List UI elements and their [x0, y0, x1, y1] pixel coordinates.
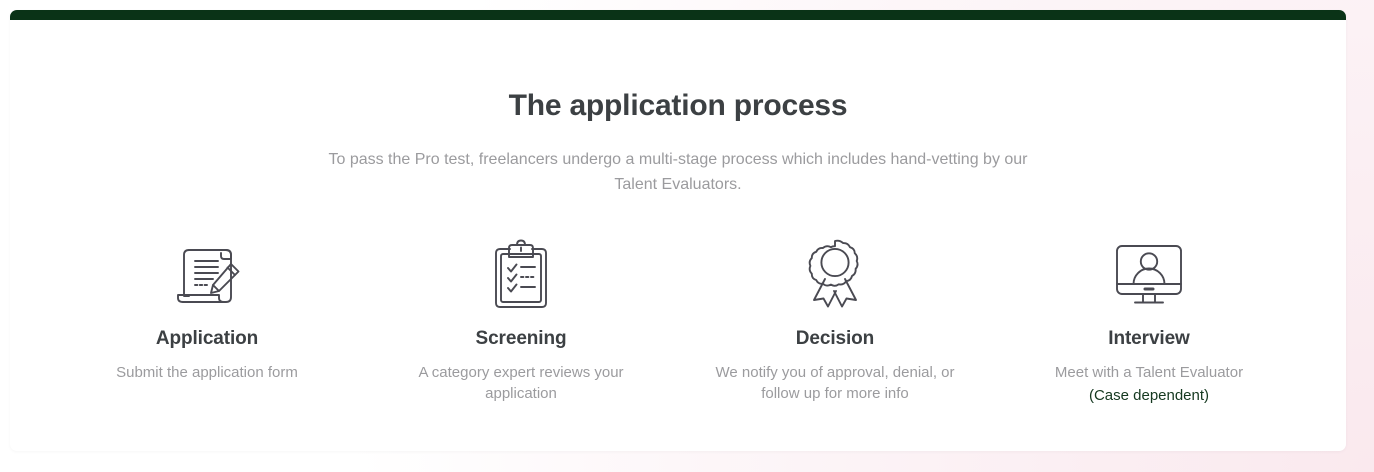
step-description: Submit the application form [82, 362, 332, 384]
step-title: Application [64, 328, 350, 350]
monitor-person-icon [1006, 238, 1292, 312]
step-description: Meet with a Talent Evaluator (Case depen… [1024, 362, 1274, 408]
step-title: Decision [692, 328, 978, 350]
step-description-text: Meet with a Talent Evaluator [1055, 364, 1243, 381]
step-screening: Screening A category expert reviews your… [364, 238, 678, 406]
step-application: Application Submit the application form [50, 238, 364, 384]
page-title: The application process [50, 88, 1306, 124]
card-accent-bar [10, 10, 1346, 20]
step-description-text: A category expert reviews your applicati… [418, 364, 623, 403]
step-decision: Decision We notify you of approval, deni… [678, 238, 992, 406]
step-description: A category expert reviews your applicati… [396, 362, 646, 406]
award-ribbon-icon [692, 238, 978, 312]
card-body: The application process To pass the Pro … [10, 88, 1346, 407]
application-process-card: The application process To pass the Pro … [10, 10, 1346, 451]
step-note: (Case dependent) [1024, 385, 1274, 407]
process-steps: Application Submit the application form [50, 238, 1306, 408]
page-subtitle: To pass the Pro test, freelancers underg… [308, 148, 1048, 198]
step-interview: Interview Meet with a Talent Evaluator (… [992, 238, 1306, 408]
step-description-text: Submit the application form [116, 364, 298, 381]
step-description: We notify you of approval, denial, or fo… [710, 362, 960, 406]
document-with-pencil-icon [64, 238, 350, 312]
step-description-text: We notify you of approval, denial, or fo… [715, 364, 954, 403]
clipboard-checklist-icon [378, 238, 664, 312]
step-title: Interview [1006, 328, 1292, 350]
step-title: Screening [378, 328, 664, 350]
